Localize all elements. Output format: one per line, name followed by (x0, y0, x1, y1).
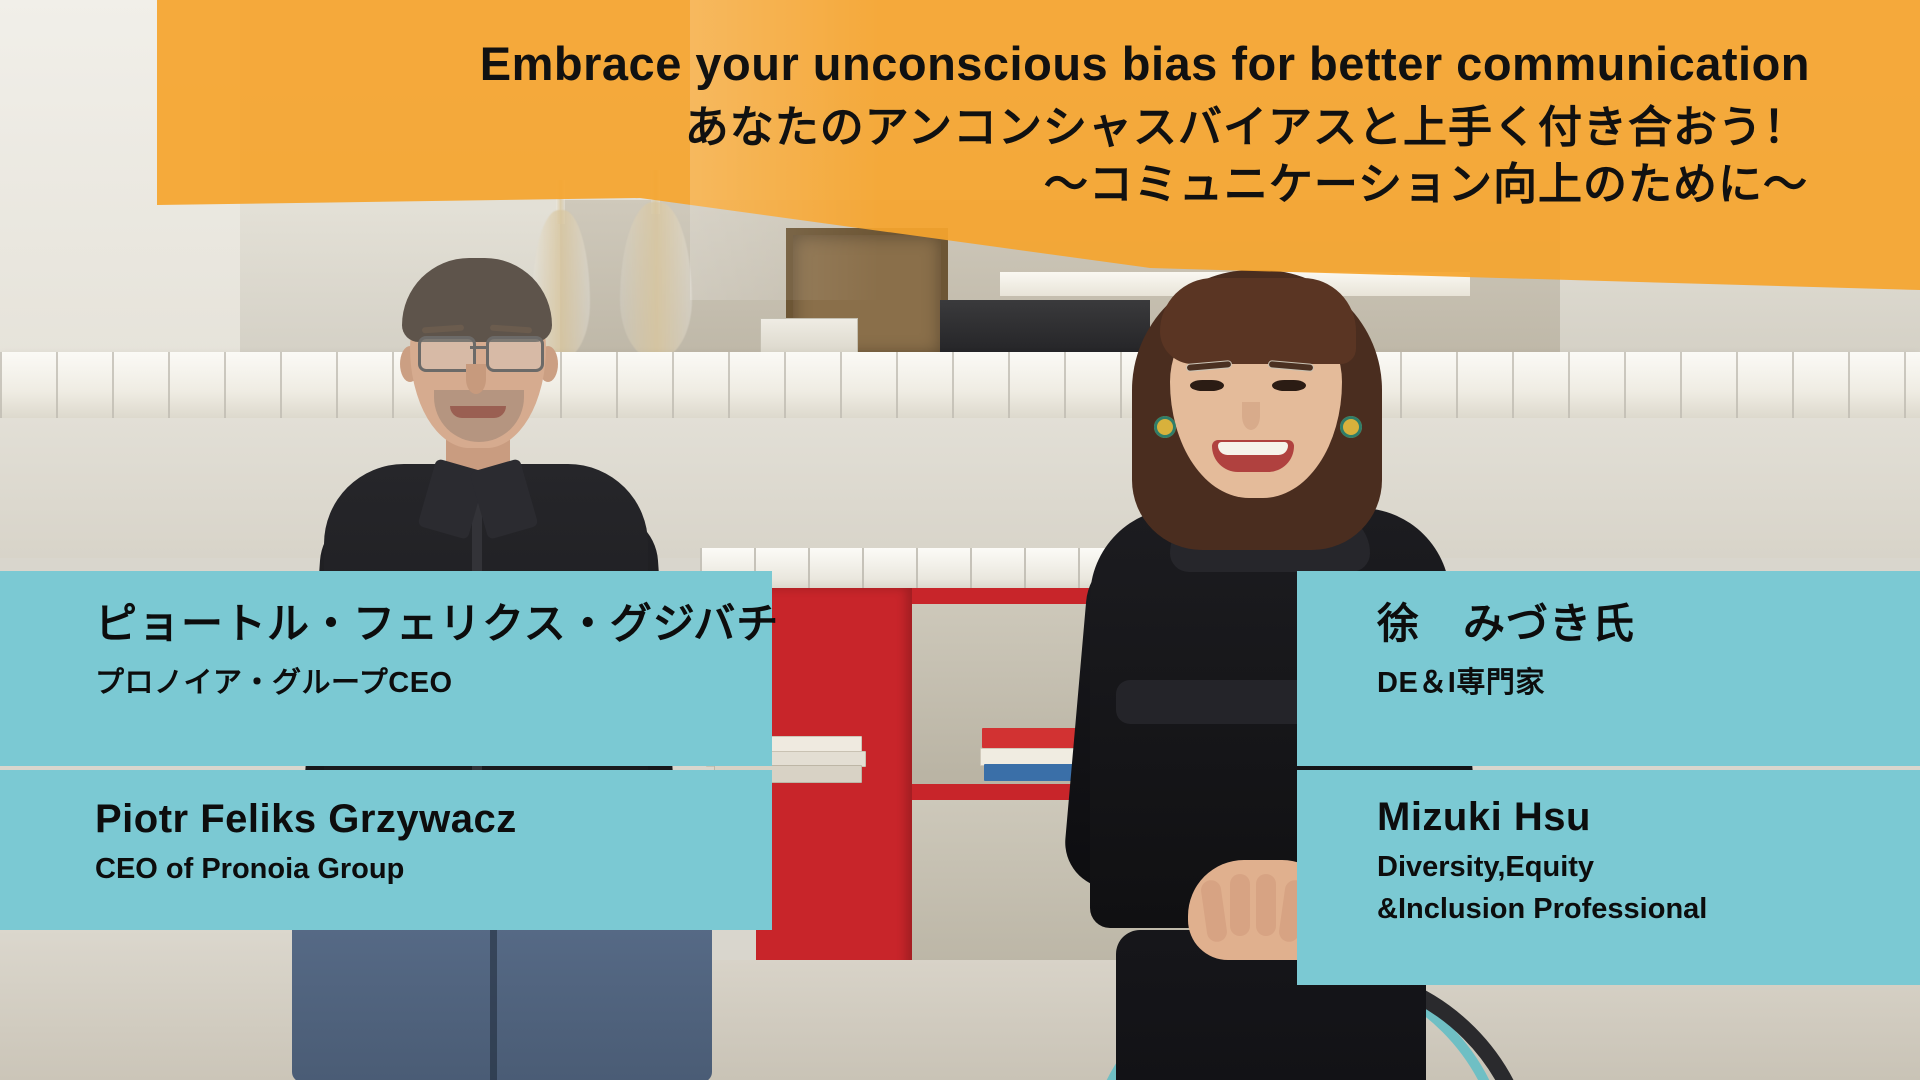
speaker-right-role-en-line2: &Inclusion Professional (1377, 891, 1920, 929)
speaker-right-name-jp: 徐 みづき氏 (1377, 599, 1920, 649)
mouth (450, 406, 506, 418)
eyeglass-lens (486, 336, 544, 372)
teeth (1218, 442, 1288, 455)
hair-fringe (1160, 278, 1356, 364)
nameplate-left-japanese: ピョートル・フェリクス・グジバチ プロノイア・グループCEO (0, 571, 772, 766)
earring (1154, 416, 1176, 438)
nameplate-right-japanese: 徐 みづき氏 DE＆I専門家 (1297, 571, 1920, 766)
eye (1272, 380, 1306, 391)
nose (466, 364, 486, 394)
video-still-frame: Embrace your unconscious bias for better… (0, 0, 1920, 1080)
speaker-left-name-en: Piotr Feliks Grzywacz (95, 796, 772, 842)
speaker-right-role-en-line1: Diversity,Equity (1377, 849, 1920, 887)
title-block: Embrace your unconscious bias for better… (0, 38, 1850, 212)
speaker-left-role-jp: プロノイア・グループCEO (95, 659, 772, 701)
title-japanese-line1: あなたのアンコンシャスバイアスと上手く付き合おう！ (0, 100, 1850, 155)
title-japanese-line2: 〜コミュニケーション向上のために〜 (0, 157, 1850, 212)
red-bookcase-upright (756, 588, 912, 1008)
earring (1340, 416, 1362, 438)
speaker-left-role-en-line1: CEO of Pronoia Group (95, 851, 772, 889)
nameplate-right-english: Mizuki Hsu Diversity,Equity &Inclusion P… (1297, 770, 1920, 985)
speaker-left-name-jp: ピョートル・フェリクス・グジバチ (95, 599, 772, 649)
nameplate-left-english: Piotr Feliks Grzywacz CEO of Pronoia Gro… (0, 770, 772, 930)
eye (1190, 380, 1224, 391)
speaker-right-name-en: Mizuki Hsu (1377, 794, 1920, 840)
nose (1242, 402, 1260, 430)
eyeglass-bridge (470, 346, 486, 349)
speaker-right-role-jp: DE＆I専門家 (1377, 659, 1920, 701)
title-english: Embrace your unconscious bias for better… (0, 38, 1850, 90)
finger (1256, 874, 1276, 936)
finger (1230, 874, 1250, 936)
